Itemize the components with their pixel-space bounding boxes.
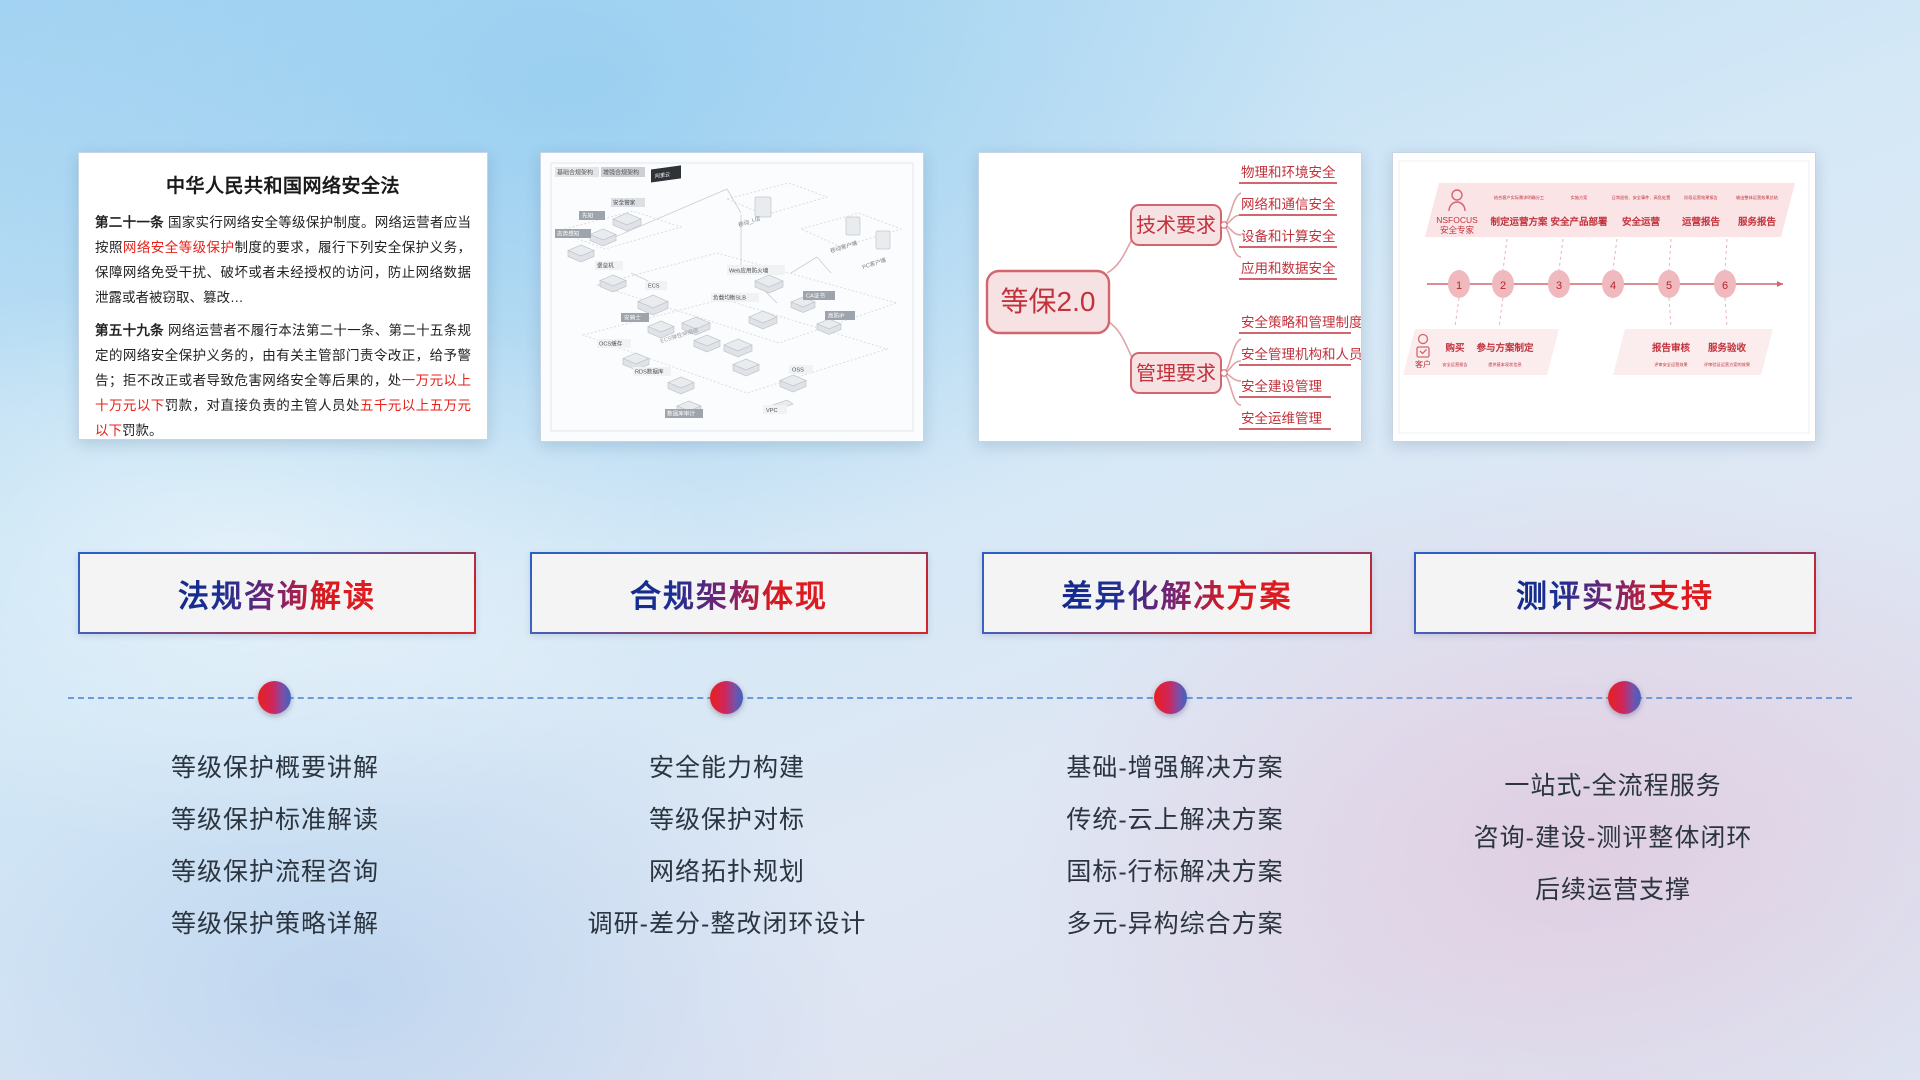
law-text: 罚款。	[122, 423, 163, 438]
expert-label-2: 安全专家	[1440, 225, 1475, 235]
roadmap-title: 服务验收	[1708, 342, 1747, 354]
list-item: 咨询-建设-测评整体闭环	[1414, 812, 1812, 864]
roadmap-title: 参与方案制定	[1475, 342, 1534, 354]
mindmap-leaf: 设备和计算安全	[1241, 228, 1336, 244]
list-item: 网络拓扑规划	[530, 846, 924, 898]
svg-text:负载均衡SLB: 负载均衡SLB	[713, 294, 746, 302]
roadmap-title: 安全产品部署	[1550, 216, 1608, 228]
section-title-box-3[interactable]: 差异化解决方案	[982, 552, 1372, 634]
law-text-highlight: 网络安全等级保护	[123, 240, 235, 255]
section-title-label: 差异化解决方案	[1062, 571, 1293, 616]
list-item: 多元-异构综合方案	[982, 898, 1368, 950]
mindmap-leaf: 安全策略和管理制度	[1241, 314, 1361, 330]
section-items-3: 基础-增强解决方案 传统-云上解决方案 国标-行标解决方案 多元-异构综合方案	[982, 742, 1368, 950]
mindmap-leaf: 安全管理机构和人员	[1241, 346, 1361, 362]
roadmap-title: 购买	[1445, 342, 1465, 354]
timeline-dot-2[interactable]	[710, 681, 743, 714]
mindmap-leaf: 应用和数据安全	[1241, 260, 1336, 276]
svg-text:6: 6	[1722, 280, 1728, 292]
list-item: 安全能力构建	[530, 742, 924, 794]
svg-text:CA证书: CA证书	[806, 292, 825, 300]
svg-text:先知: 先知	[582, 212, 594, 220]
mindmap-leaf: 安全建设管理	[1241, 378, 1322, 394]
law-text: 罚款，对直接负责的主管人员处	[165, 398, 360, 413]
mindmap-leaf: 安全运维管理	[1241, 410, 1322, 426]
architecture-diagram: 基础合规架构 增强合规架构 阿里云	[541, 153, 923, 441]
list-item: 调研-差分-整改闭环设计	[530, 898, 924, 950]
timeline-dot-4[interactable]	[1608, 681, 1641, 714]
list-item: 后续运营支撑	[1414, 864, 1812, 916]
svg-text:VPC: VPC	[766, 408, 778, 414]
roadmap-top-banner	[1425, 183, 1795, 237]
svg-text:OSS: OSS	[792, 368, 804, 374]
mindmap-leaf: 物理和环境安全	[1241, 164, 1336, 180]
svg-text:3: 3	[1556, 280, 1562, 292]
arch-caption-right: 增强合规架构	[603, 169, 639, 177]
list-item: 等级保护对标	[530, 794, 924, 846]
svg-text:2: 2	[1500, 280, 1506, 292]
article-number: 第五十九条	[95, 323, 164, 338]
section-title-box-1[interactable]: 法规咨询解读	[78, 552, 476, 634]
roadmap-sub: 安全运营报告	[1442, 361, 1467, 368]
section-title-box-4[interactable]: 测评实施支持	[1414, 552, 1816, 634]
law-paragraph-59: 第五十九条 网络运营者不履行本法第二十一条、第二十五条规定的网络安全保护义务的，…	[95, 318, 471, 440]
roadmap-sub: 阶段运营效果报告	[1684, 194, 1718, 201]
section-title-box-2[interactable]: 合规架构体现	[530, 552, 928, 634]
mindmap-leaf: 网络和通信安全	[1241, 196, 1336, 212]
svg-text:OCS缓存: OCS缓存	[599, 340, 623, 348]
roadmap-title: 安全运营	[1622, 216, 1661, 228]
svg-text:Web应用防火墙: Web应用防火墙	[729, 266, 769, 274]
section-title-label: 合规架构体现	[630, 571, 828, 616]
list-item: 一站式-全流程服务	[1414, 760, 1812, 812]
svg-text:高防IP: 高防IP	[828, 312, 845, 320]
timeline-dot-1[interactable]	[258, 681, 291, 714]
card-mindmap-dengbao: 等保2.0 技术要求 管理要求 物理和环境安全 网络和通信安全 设备和计算安全 …	[978, 152, 1362, 442]
svg-text:RDS数据库: RDS数据库	[635, 368, 664, 376]
section-items-4: 一站式-全流程服务 咨询-建设-测评整体闭环 后续运营支撑	[1414, 760, 1812, 916]
section-title-label: 法规咨询解读	[178, 571, 376, 616]
svg-text:5: 5	[1666, 280, 1672, 292]
section-items-2: 安全能力构建 等级保护对标 网络拓扑规划 调研-差分-整改闭环设计	[530, 742, 924, 950]
roadmap-title: 服务报告	[1738, 216, 1777, 228]
roadmap-bottom-banner-right	[1613, 329, 1773, 375]
law-title: 中华人民共和国网络安全法	[95, 171, 471, 198]
list-item: 等级保护概要讲解	[78, 742, 472, 794]
list-item: 等级保护流程咨询	[78, 846, 472, 898]
roadmap-sub: 提供基本现状信息	[1488, 361, 1522, 368]
section-items-1: 等级保护概要讲解 等级保护标准解读 等级保护流程咨询 等级保护策略详解	[78, 742, 472, 950]
card-cloud-architecture: 基础合规架构 增强合规架构 阿里云	[540, 152, 924, 442]
timeline-dashed-line	[68, 697, 1852, 699]
svg-text:堡垒机: 堡垒机	[597, 262, 614, 270]
roadmap-title: 报告审核	[1652, 342, 1691, 354]
roadmap-title: 运营报告	[1682, 216, 1721, 228]
article-number: 第二十一条	[95, 215, 164, 230]
roadmap-sub: 日常巡检、安全事件、高危处置	[1612, 194, 1671, 201]
mindmap-diagram: 等保2.0 技术要求 管理要求 物理和环境安全 网络和通信安全 设备和计算安全 …	[979, 153, 1361, 441]
list-item: 国标-行标解决方案	[982, 846, 1368, 898]
list-item: 传统-云上解决方案	[982, 794, 1368, 846]
law-paragraph-21: 第二十一条 国家实行网络安全等级保护制度。网络运营者应当按照网络安全等级保护制度…	[95, 210, 471, 310]
section-title-label: 测评实施支持	[1516, 571, 1714, 616]
expert-label-1: NSFOCUS	[1436, 215, 1478, 225]
customer-label: 客户	[1415, 359, 1431, 369]
svg-text:态势感知: 态势感知	[557, 230, 580, 238]
mindmap-root-label: 等保2.0	[1001, 286, 1096, 317]
svg-text:安全管家: 安全管家	[613, 199, 636, 207]
roadmap-sub: 评审验证运营方案的效果	[1704, 361, 1751, 368]
svg-text:4: 4	[1610, 280, 1616, 292]
svg-text:数据库审计: 数据库审计	[667, 410, 695, 418]
roadmap-sub: 输出整体运营效果总结	[1736, 194, 1778, 201]
mindmap-branch-mgmt-label: 管理要求	[1136, 362, 1216, 385]
card-cybersecurity-law: 中华人民共和国网络安全法 第二十一条 国家实行网络安全等级保护制度。网络运营者应…	[78, 152, 488, 440]
list-item: 等级保护标准解读	[78, 794, 472, 846]
roadmap-title: 制定运营方案	[1490, 216, 1548, 228]
arch-caption-left: 基础合规架构	[557, 169, 593, 177]
timeline-dot-3[interactable]	[1154, 681, 1187, 714]
svg-text:ECS: ECS	[648, 284, 660, 290]
list-item: 等级保护策略详解	[78, 898, 472, 950]
roadmap-sub: 评审安全运营效果	[1654, 361, 1688, 368]
card-service-roadmap: NSFOCUS 安全专家 结合客户实际需求明确分工 制定运营方案 实施方案 安全…	[1392, 152, 1816, 442]
roadmap-sub: 结合客户实际需求明确分工	[1494, 194, 1544, 201]
roadmap-sub: 实施方案	[1571, 194, 1589, 201]
mindmap-branch-tech-label: 技术要求	[1136, 214, 1216, 237]
roadmap-diagram: NSFOCUS 安全专家 结合客户实际需求明确分工 制定运营方案 实施方案 安全…	[1393, 153, 1815, 441]
list-item: 基础-增强解决方案	[982, 742, 1368, 794]
svg-text:安骑士: 安骑士	[624, 314, 641, 322]
svg-text:1: 1	[1456, 280, 1462, 292]
